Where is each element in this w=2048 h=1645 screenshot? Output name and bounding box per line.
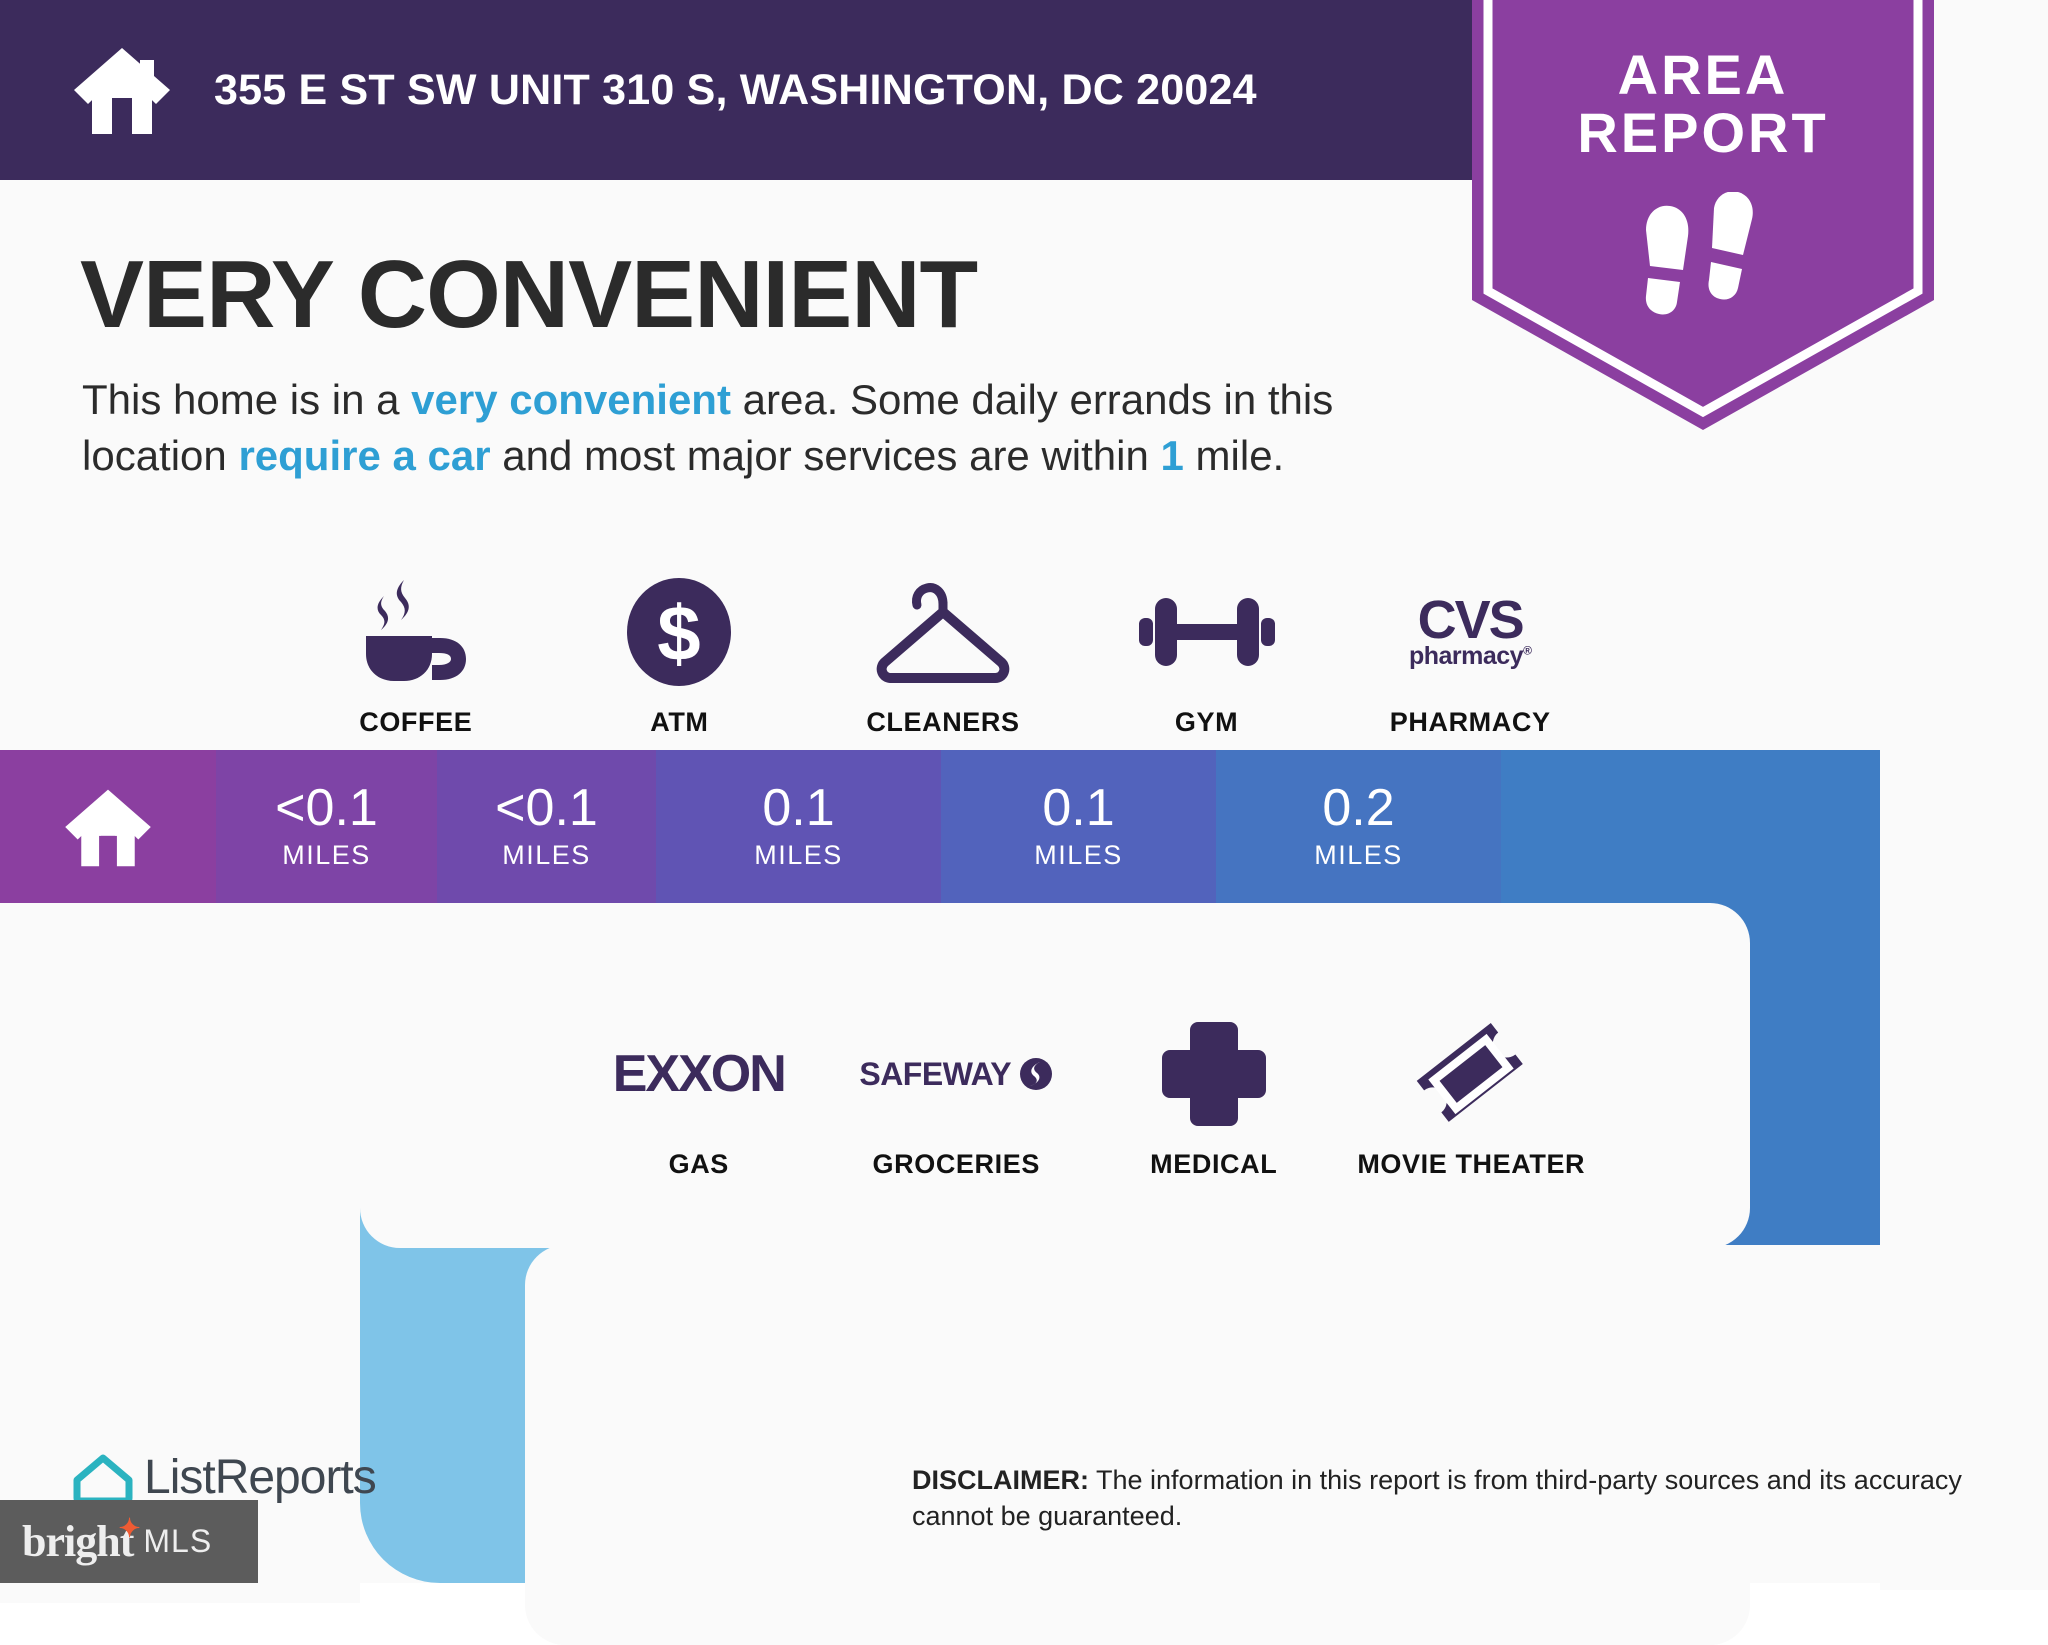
amenity-label: GROCERIES [873,1149,1040,1180]
exxon-logo: EXXON [613,1015,785,1133]
description-text: This home is in a very convenient area. … [82,372,1482,484]
header-bar: 355 E ST SW UNIT 310 S, WASHINGTON, DC 2… [0,0,1480,180]
safeway-wordmark: SAFEWAY [859,1056,1011,1093]
desc-highlight-1: very convenient [411,376,731,423]
amenity-pharmacy[interactable]: CVS pharmacy® PHARMACY [1338,548,1602,738]
desc-part-3: and most major services are within [491,432,1161,479]
distance-value: 0.1 [1042,782,1114,834]
distance-unit: MILES [754,840,843,871]
bright-star-icon: ✦ [119,1514,140,1544]
coffee-cup-icon [356,573,476,691]
listreports-wordmark: ListReports [144,1450,376,1505]
movie-ticket-icon [1412,1015,1530,1133]
house-outline-icon [72,1452,134,1504]
amenity-label: GAS [669,1149,729,1180]
distance-value: <0.1 [495,782,598,834]
clothes-hanger-icon [873,573,1013,691]
badge-line-2: REPORT [1472,104,1934,162]
property-address: 355 E ST SW UNIT 310 S, WASHINGTON, DC 2… [214,66,1257,115]
mls-wordmark: MLS [143,1523,212,1560]
amenity-gas[interactable]: EXXON GAS [570,980,828,1180]
amenity-label: MOVIE THEATER [1357,1149,1585,1180]
amenity-coffee[interactable]: COFFEE [284,548,548,738]
ribbon-tail-1 [1501,750,1880,903]
amenity-movie-theater[interactable]: MOVIE THEATER [1343,980,1601,1180]
dumbbell-icon [1137,573,1277,691]
safeway-logo: SAFEWAY [859,1015,1053,1133]
safeway-s-mark [1019,1057,1053,1091]
distance-unit: MILES [1314,840,1403,871]
amenity-label: CLEANERS [866,707,1019,738]
distance-cell-coffee: <0.1 MILES [216,750,437,903]
amenity-gym[interactable]: GYM [1075,548,1339,738]
amenity-atm[interactable]: $ ATM [548,548,812,738]
home-icon [63,786,153,868]
distance-cell-cleaners: 0.1 MILES [656,750,941,903]
medical-cross-icon [1158,1015,1270,1133]
home-marker-cell [0,750,216,903]
distance-value: 0.2 [1322,782,1394,834]
home-icon [72,44,172,136]
disclaimer-label: DISCLAIMER: [912,1465,1089,1495]
distance-unit: MILES [502,840,591,871]
badge-title: AREA REPORT [1472,46,1934,162]
amenity-label: GYM [1175,707,1238,738]
distance-cell-gym: 0.1 MILES [941,750,1216,903]
ribbon-cutout-lower [525,1245,1750,1645]
svg-text:$: $ [658,589,701,677]
desc-highlight-3: 1 [1161,432,1184,479]
amenity-icons-row-2: EXXON GAS SAFEWAY GROCERIES MEDICAL [570,980,1600,1180]
amenity-label: COFFEE [359,707,472,738]
bright-mls-watermark: bright✦ MLS [0,1500,258,1583]
amenity-label: ATM [650,707,708,738]
badge-line-1: AREA [1472,46,1934,104]
distance-cell-pharmacy: 0.2 MILES [1216,750,1501,903]
listreports-logo: ListReports [72,1450,376,1505]
amenity-medical[interactable]: MEDICAL [1085,980,1343,1180]
amenity-groceries[interactable]: SAFEWAY GROCERIES [828,980,1086,1180]
amenity-cleaners[interactable]: CLEANERS [811,548,1075,738]
distance-value: 0.1 [762,782,834,834]
area-report-badge: AREA REPORT [1472,0,1934,430]
distance-unit: MILES [1034,840,1123,871]
amenity-icons-row-1: COFFEE $ ATM CLEANERS [284,548,1602,738]
distance-row-1: <0.1 MILES <0.1 MILES 0.1 MILES 0.1 MILE… [0,750,1880,903]
distance-value: <0.1 [275,782,378,834]
disclaimer-text: DISCLAIMER: The information in this repo… [912,1462,1992,1535]
cvs-pharmacy-logo: CVS pharmacy® [1409,573,1531,691]
distance-unit: MILES [282,840,371,871]
amenity-label: PHARMACY [1390,707,1551,738]
dollar-circle-icon: $ [624,573,734,691]
amenity-label: MEDICAL [1150,1149,1277,1180]
bright-wordmark: bright✦ [22,1516,133,1567]
distance-cell-atm: <0.1 MILES [437,750,656,903]
desc-part-4: mile. [1184,432,1284,479]
page-title: VERY CONVENIENT [80,240,977,350]
cvs-wordmark: CVS [1409,597,1531,645]
exxon-wordmark: EXXON [613,1044,785,1104]
pharmacy-wordmark: pharmacy® [1409,645,1531,667]
desc-highlight-2: require a car [238,432,490,479]
desc-part-1: This home is in a [82,376,411,423]
footprints-icon [1628,192,1778,322]
